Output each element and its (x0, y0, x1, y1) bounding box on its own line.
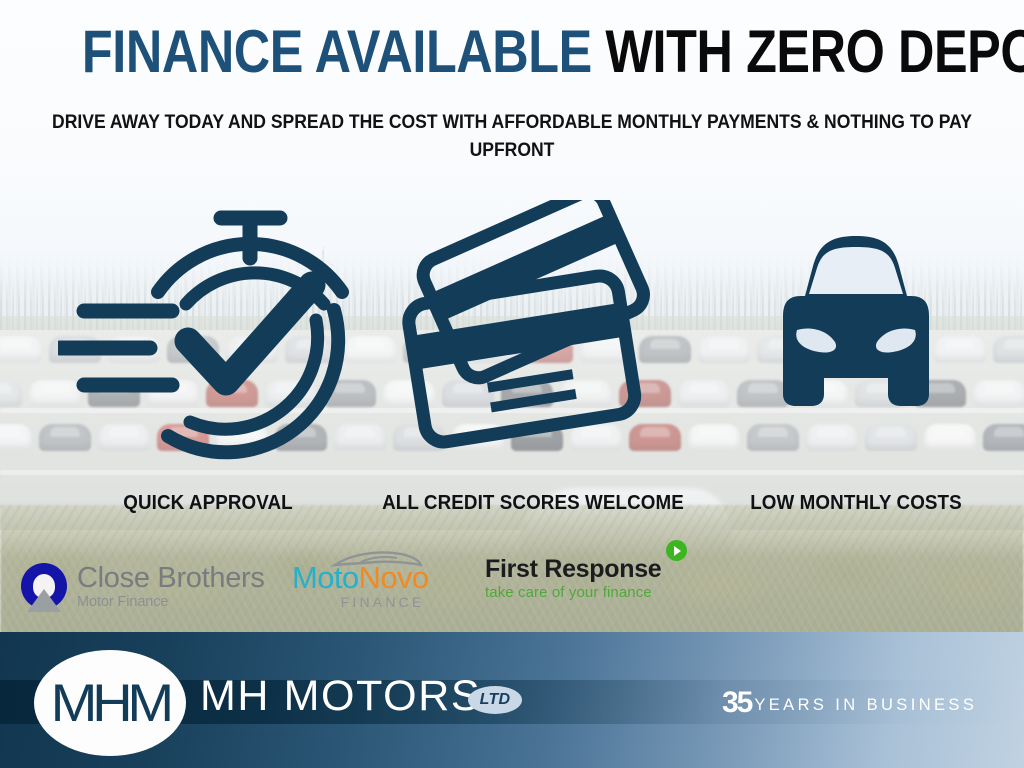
headline-block: FINANCE AVAILABLE WITH ZERO DEPOSIT (0, 22, 1024, 82)
feature-quick-approval: QUICK APPROVAL (38, 196, 378, 526)
partner-name: Close Brothers (77, 564, 265, 594)
partner-logo-first-response: First Response take care of your finance (485, 556, 661, 618)
feature-all-credit-scores: ALL CREDIT SCORES WELCOME (363, 196, 703, 526)
circle-mountain-icon (18, 561, 70, 613)
partner-logo-motonovo: MotoNovo FINANCE (292, 556, 429, 618)
mhm-logo-badge: MHM (34, 650, 186, 756)
partner-tagline: FINANCE (341, 594, 425, 610)
partner-tagline: take care of your finance (485, 584, 652, 601)
feature-label: LOW MONTHLY COSTS (696, 492, 1016, 515)
green-play-circle-icon (666, 540, 687, 561)
years-text: YEARS IN BUSINESS (754, 696, 977, 715)
feature-icon-wrap (686, 196, 1024, 474)
car-swoosh-icon (331, 550, 423, 572)
feature-label: ALL CREDIT SCORES WELCOME (373, 492, 693, 515)
headline-part-blue: FINANCE AVAILABLE (82, 18, 592, 85)
company-name: MH MOTORS (200, 672, 481, 721)
feature-icon-wrap (38, 196, 378, 474)
credit-cards-icon (388, 200, 678, 470)
ltd-badge: LTD (468, 686, 522, 714)
partner-logo-close-brothers: Close Brothers Motor Finance (18, 556, 265, 618)
finance-advert-banner: FINANCE AVAILABLE WITH ZERO DEPOSIT DRIV… (0, 0, 1024, 768)
partner-name: First Response (485, 555, 661, 583)
feature-low-monthly-costs: LOW MONTHLY COSTS (686, 196, 1024, 526)
feature-row: QUICK APPROVAL (0, 196, 1024, 526)
subheadline: DRIVE AWAY TODAY AND SPREAD THE COST WIT… (22, 108, 1003, 164)
years-in-business: 35 YEARS IN BUSINESS (722, 686, 977, 716)
years-number: 35 (722, 688, 751, 718)
feature-label: QUICK APPROVAL (48, 492, 368, 515)
ltd-label: LTD (480, 691, 511, 709)
mhm-monogram: MHM (51, 673, 169, 734)
headline: FINANCE AVAILABLE WITH ZERO DEPOSIT (82, 22, 942, 82)
stopwatch-check-icon (58, 200, 358, 470)
finance-partner-logos: Close Brothers Motor Finance MotoNovo FI… (0, 556, 1024, 626)
headline-part-black: WITH ZERO DEPOSIT (605, 18, 1024, 85)
car-front-icon (731, 220, 981, 450)
partner-tagline: Motor Finance (77, 594, 265, 610)
feature-icon-wrap (363, 196, 703, 474)
